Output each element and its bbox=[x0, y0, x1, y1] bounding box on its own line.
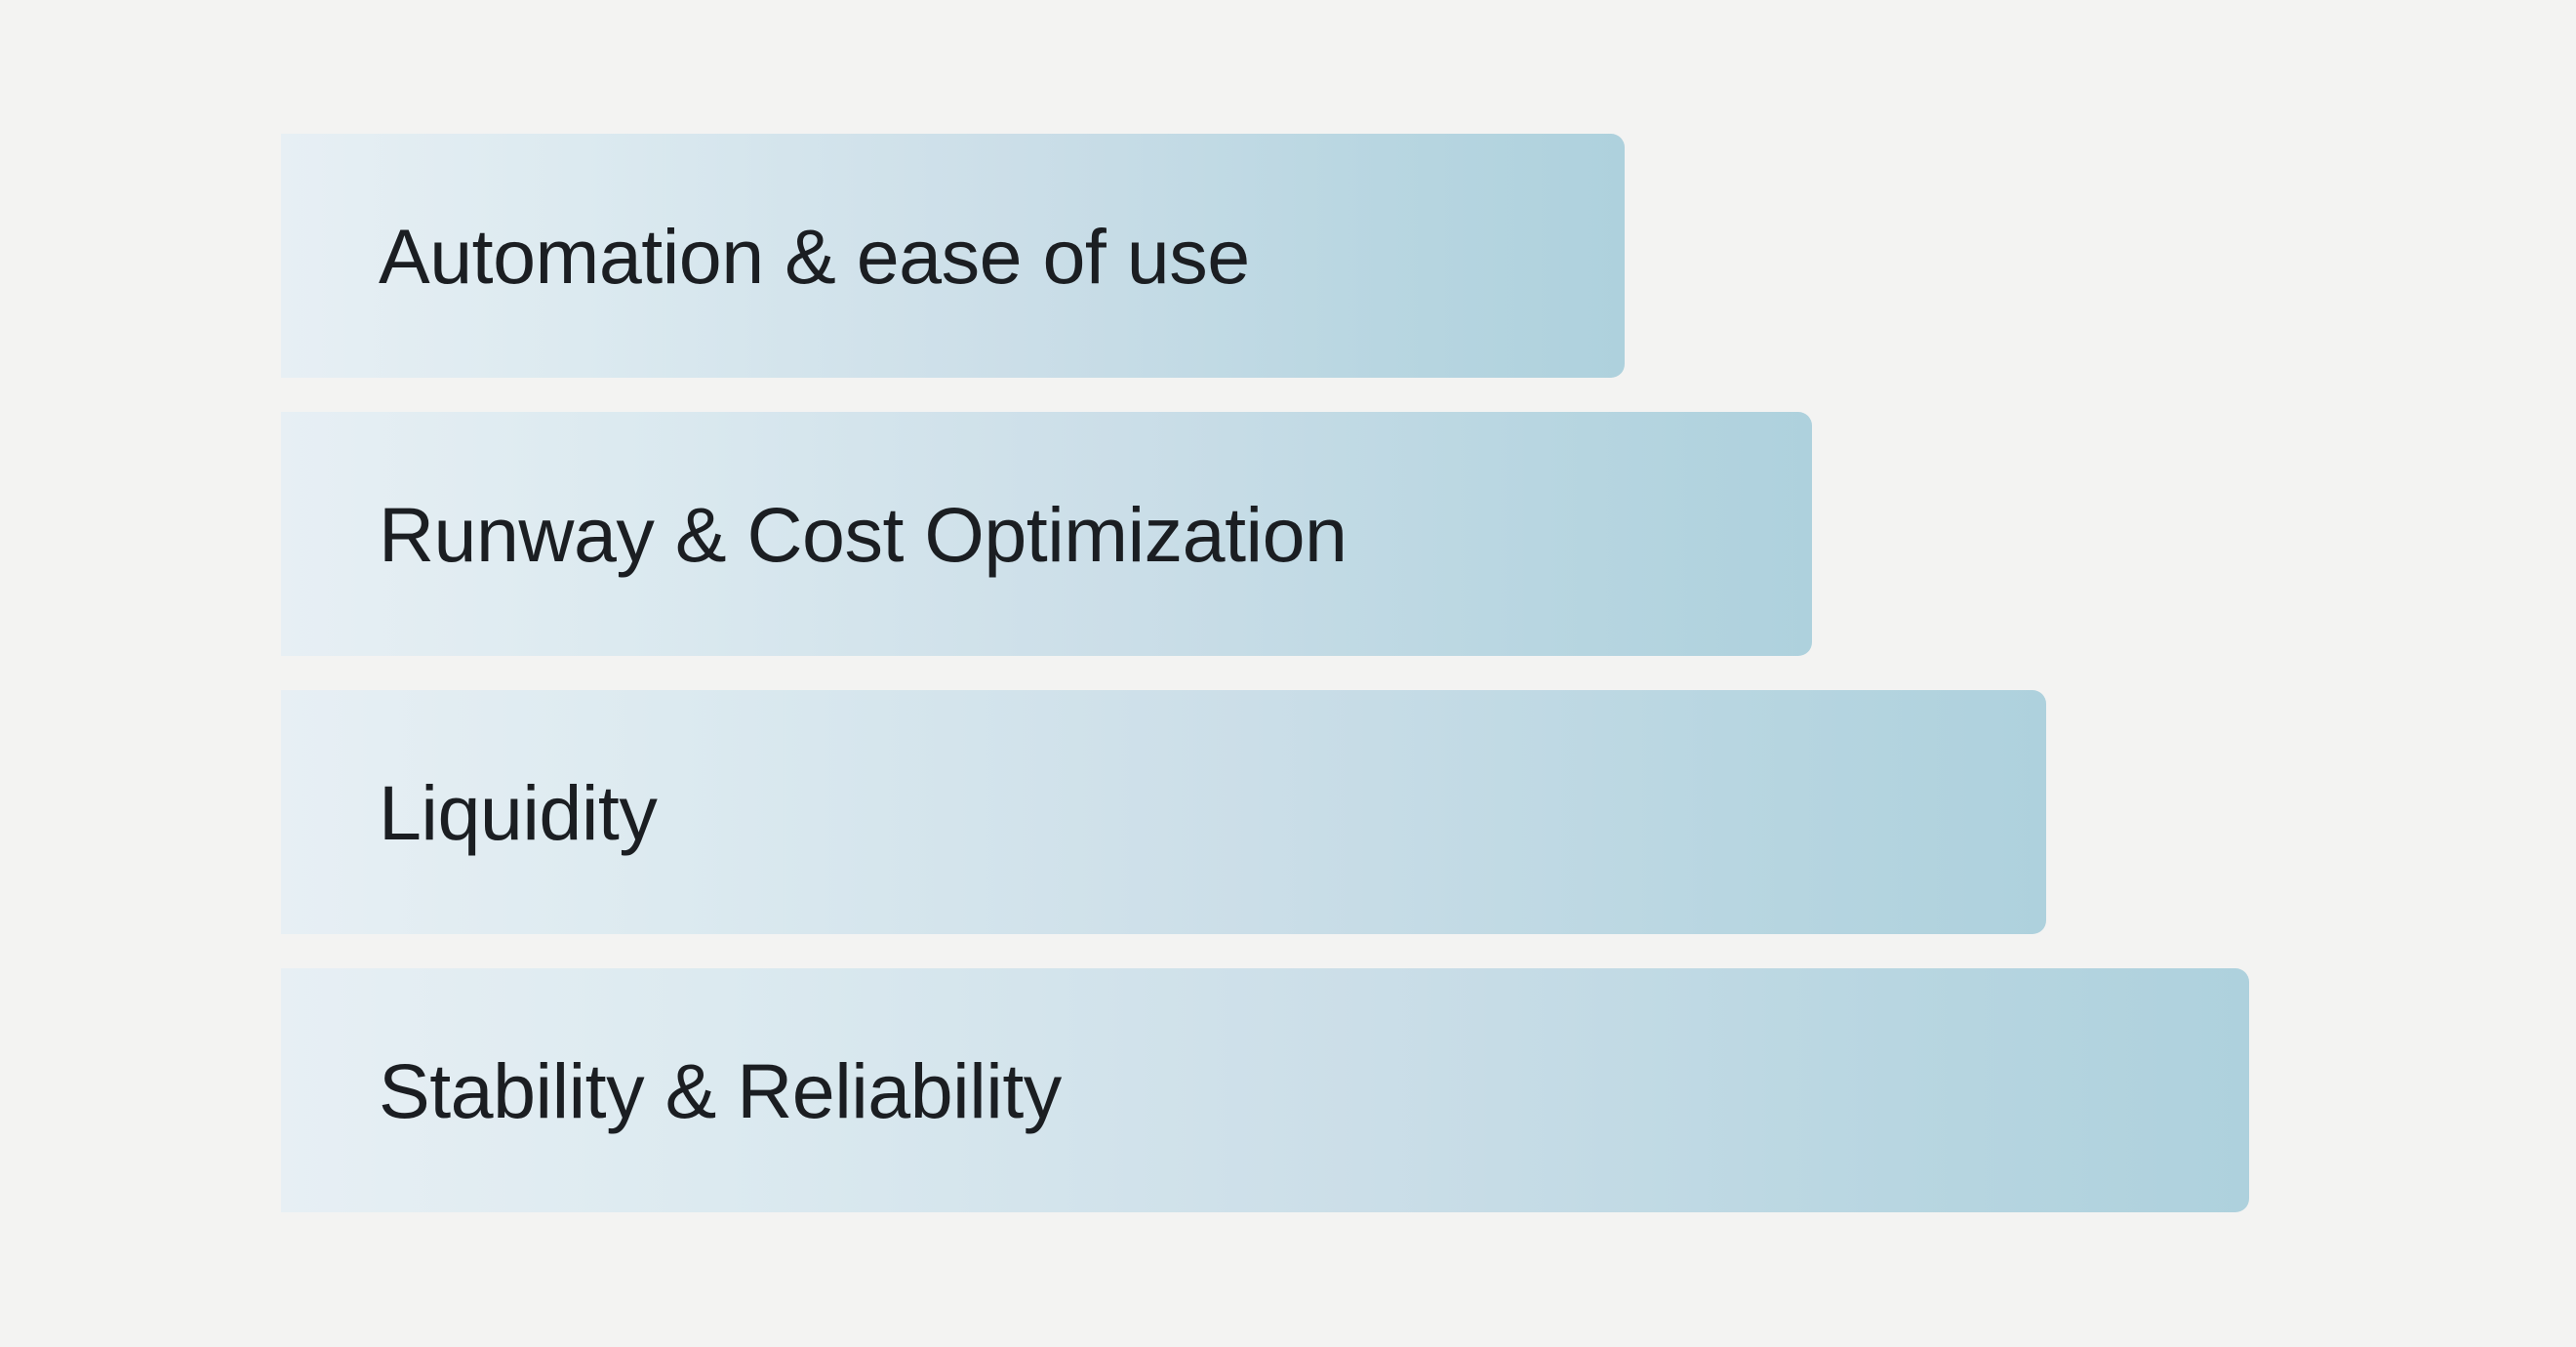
bar-row: Automation & ease of use bbox=[281, 134, 2330, 378]
bar-row: Runway & Cost Optimization bbox=[281, 412, 2330, 656]
bar-row: Stability & Reliability bbox=[281, 968, 2330, 1212]
horizontal-bar-chart: Automation & ease of use Runway & Cost O… bbox=[0, 0, 2576, 1347]
bar-automation-ease-of-use[interactable]: Automation & ease of use bbox=[281, 134, 1625, 378]
bar-runway-cost-optimization[interactable]: Runway & Cost Optimization bbox=[281, 412, 1812, 656]
bar-label: Automation & ease of use bbox=[379, 218, 1250, 295]
bar-label: Runway & Cost Optimization bbox=[379, 496, 1347, 573]
bar-label: Liquidity bbox=[379, 774, 657, 851]
bar-stability-reliability[interactable]: Stability & Reliability bbox=[281, 968, 2249, 1212]
bar-liquidity[interactable]: Liquidity bbox=[281, 690, 2046, 934]
bar-row: Liquidity bbox=[281, 690, 2330, 934]
bar-label: Stability & Reliability bbox=[379, 1052, 1062, 1129]
bar-list: Automation & ease of use Runway & Cost O… bbox=[281, 134, 2330, 1212]
